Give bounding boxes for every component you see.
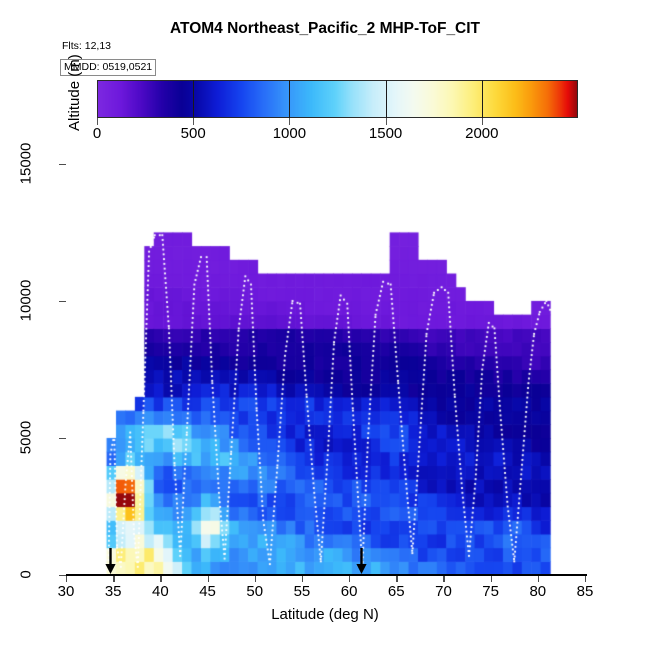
x-tick-label: 40 bbox=[152, 583, 169, 600]
x-tick-label: 30 bbox=[58, 583, 75, 600]
y-tick-label: 10000 bbox=[18, 274, 35, 326]
x-tick-label: 60 bbox=[341, 583, 358, 600]
x-axis-title: Latitude (deg N) bbox=[0, 606, 650, 623]
colorbar-separator bbox=[289, 80, 290, 118]
y-tick bbox=[59, 575, 66, 576]
x-tick bbox=[66, 575, 67, 582]
x-tick bbox=[443, 575, 444, 582]
x-tick-label: 55 bbox=[294, 583, 311, 600]
y-tick bbox=[59, 164, 66, 165]
y-axis-title: Altitude (m) bbox=[66, 0, 83, 131]
x-tick bbox=[491, 575, 492, 582]
x-tick bbox=[585, 575, 586, 582]
colorbar-ticks: 0500100015002000 bbox=[97, 118, 578, 126]
latitude-marker-arrow bbox=[104, 548, 117, 574]
x-tick-label: 45 bbox=[199, 583, 216, 600]
x-tick bbox=[160, 575, 161, 582]
curtain-heatmap bbox=[66, 131, 585, 575]
x-tick-label: 65 bbox=[388, 583, 405, 600]
x-tick-label: 35 bbox=[105, 583, 122, 600]
x-tick bbox=[302, 575, 303, 582]
x-tick-label: 85 bbox=[577, 583, 594, 600]
x-tick-label: 80 bbox=[529, 583, 546, 600]
colorbar-separator bbox=[193, 80, 194, 118]
x-tick bbox=[113, 575, 114, 582]
x-tick bbox=[396, 575, 397, 582]
y-tick-label: 0 bbox=[18, 549, 35, 601]
y-tick bbox=[59, 301, 66, 302]
plot-area: 050001000015000 303540455055606570758085… bbox=[66, 131, 585, 575]
x-tick bbox=[349, 575, 350, 582]
x-tick bbox=[538, 575, 539, 582]
x-tick bbox=[208, 575, 209, 582]
x-tick-label: 50 bbox=[246, 583, 263, 600]
colorbar-gradient bbox=[97, 80, 578, 118]
colorbar: 0500100015002000 bbox=[97, 80, 578, 118]
latitude-marker-arrow bbox=[355, 548, 368, 574]
colorbar-separator bbox=[386, 80, 387, 118]
y-tick bbox=[59, 438, 66, 439]
colorbar-tick bbox=[482, 118, 483, 125]
x-tick-label: 70 bbox=[435, 583, 452, 600]
x-tick-label: 75 bbox=[482, 583, 499, 600]
colorbar-tick bbox=[97, 118, 98, 125]
x-tick bbox=[255, 575, 256, 582]
page-title: ATOM4 Northeast_Pacific_2 MHP-ToF_CIT bbox=[0, 20, 650, 38]
colorbar-tick bbox=[193, 118, 194, 125]
colorbar-tick bbox=[386, 118, 387, 125]
y-tick-label: 15000 bbox=[18, 137, 35, 189]
colorbar-tick bbox=[289, 118, 290, 125]
y-tick-label: 5000 bbox=[18, 411, 35, 463]
x-axis-line bbox=[66, 574, 587, 576]
colorbar-separator bbox=[482, 80, 483, 118]
figure-root: ATOM4 Northeast_Pacific_2 MHP-ToF_CIT Fl… bbox=[0, 0, 650, 650]
